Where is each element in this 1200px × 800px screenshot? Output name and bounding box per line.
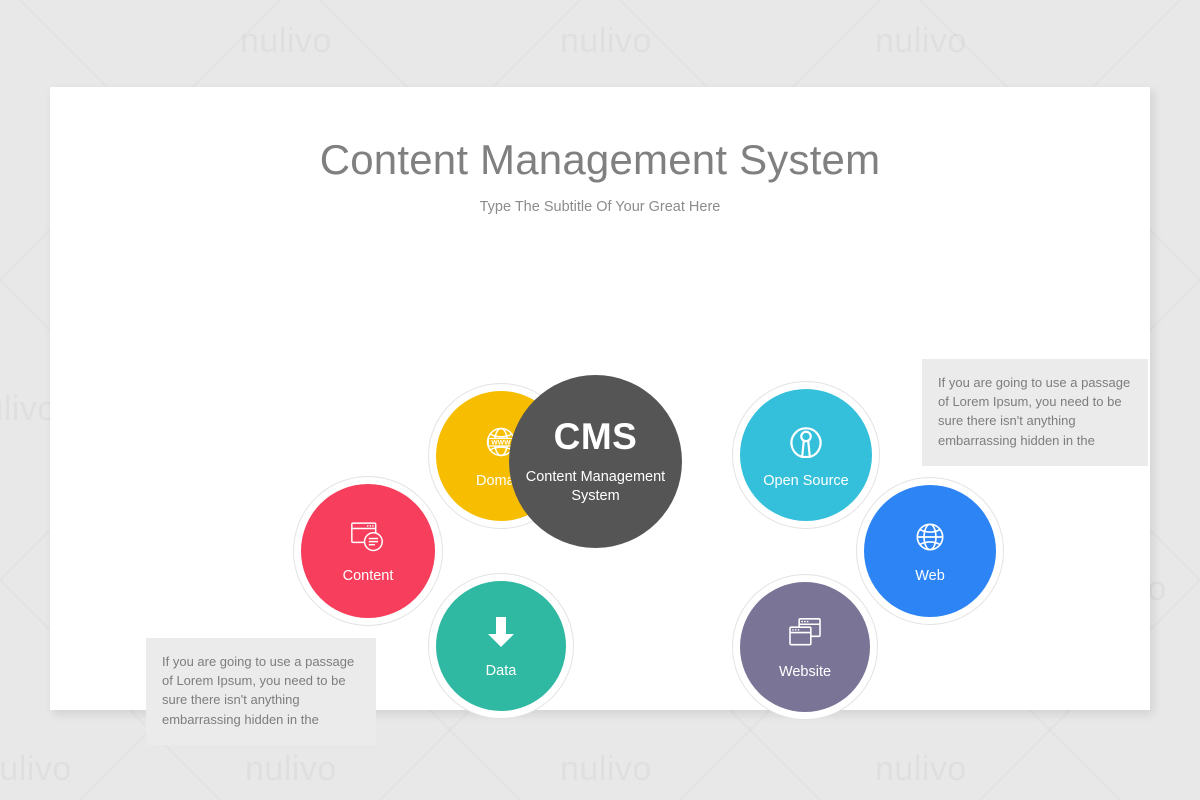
node-content-body: Content — [301, 484, 435, 618]
watermark-text: nulivo — [0, 750, 72, 789]
node-open-source-body: Open Source — [740, 389, 872, 521]
node-content-label: Content — [343, 568, 394, 585]
note-left: If you are going to use a passage of Lor… — [146, 638, 376, 745]
download-arrow-icon — [484, 613, 518, 656]
node-web-label: Web — [915, 568, 945, 585]
watermark-text: nulivo — [245, 750, 337, 789]
node-website-label: Website — [779, 664, 831, 681]
browser-document-icon — [348, 518, 388, 561]
open-source-icon — [787, 421, 825, 466]
node-data-label: Data — [486, 663, 517, 680]
watermark-text: nulivo — [240, 22, 332, 61]
watermark-text: nulivo — [560, 750, 652, 789]
node-open-source[interactable]: Open Source — [732, 381, 880, 529]
note-right: If you are going to use a passage of Lor… — [922, 359, 1148, 466]
node-web[interactable]: Web — [856, 477, 1004, 625]
globe-icon — [911, 518, 949, 561]
watermark-text: nulivo — [875, 22, 967, 61]
slide: Content Management System Type The Subti… — [50, 87, 1150, 710]
node-data-body: Data — [436, 581, 566, 711]
node-data[interactable]: Data — [428, 573, 574, 719]
node-content[interactable]: Content — [293, 476, 443, 626]
watermark-text: nulivo — [875, 750, 967, 789]
hub-acronym: CMS — [554, 418, 638, 455]
hub-cms[interactable]: CMS Content Management System — [509, 375, 682, 548]
node-website-body: Website — [740, 582, 870, 712]
node-open-source-label: Open Source — [763, 473, 848, 490]
node-website[interactable]: Website — [732, 574, 878, 720]
screenshot-canvas: nulivo nulivo nulivo nulivo nulivo nuliv… — [0, 0, 1200, 800]
browser-windows-icon — [785, 614, 825, 657]
watermark-text: nulivo — [560, 22, 652, 61]
watermark-text: nulivo — [0, 390, 57, 429]
hub-caption: Content Management System — [509, 468, 682, 506]
node-web-body: Web — [864, 485, 996, 617]
cms-diagram: WWW Domain — [50, 87, 1150, 710]
svg-text:WWW: WWW — [491, 439, 511, 446]
